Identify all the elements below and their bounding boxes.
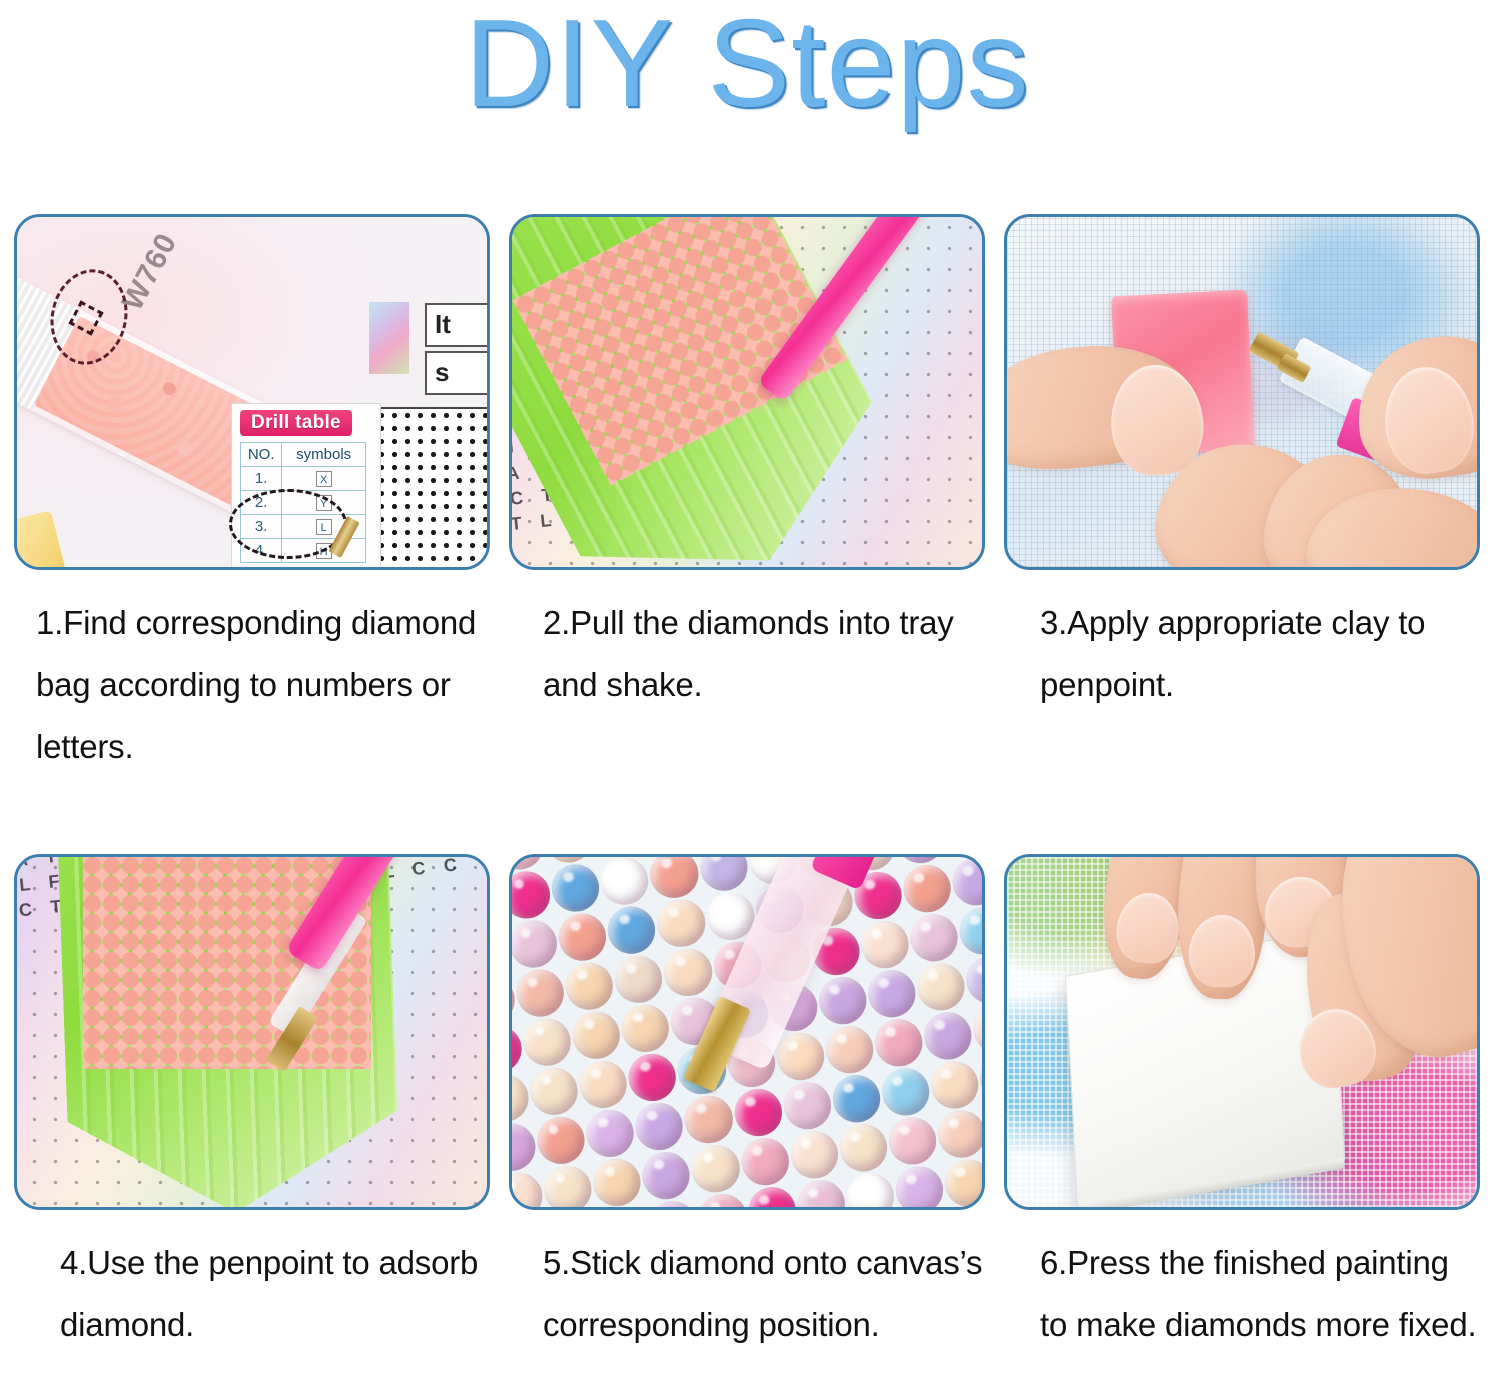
diamond-bead <box>935 1107 982 1160</box>
diamond-bead <box>823 1023 876 1076</box>
diamond-bead <box>647 1198 700 1207</box>
diamond-bead <box>512 868 554 921</box>
steps-grid-row-1: W760 It s Drill table NO. symbols <box>14 214 1484 788</box>
diamond-bead <box>556 910 609 963</box>
diamond-bead <box>886 1114 939 1167</box>
diamond-bead <box>550 861 603 914</box>
diamond-bead <box>795 1177 848 1207</box>
diamond-bead <box>662 946 715 999</box>
diamond-bead <box>942 1156 982 1207</box>
diamond-bead <box>512 1022 525 1075</box>
steps-grid-row-2: V A A T C V L J T X C V L C V T L C C V … <box>14 854 1484 1395</box>
step-photo-6 <box>1004 854 1480 1210</box>
drill-table-title: Drill table <box>240 410 352 436</box>
diamond-bead <box>901 862 954 915</box>
diamond-bead <box>732 1086 785 1139</box>
diamond-bead <box>689 1142 742 1195</box>
diamond-bead <box>535 1114 588 1167</box>
diamond-bead <box>788 1128 841 1181</box>
step-card-5: 5.Stick diamond onto canvas’s correspond… <box>509 854 985 1395</box>
diamond-bead <box>928 1058 981 1111</box>
step-card-2: XAAMX T X X A A V X T A X V T C V L T T … <box>509 214 985 788</box>
diamond-bead <box>915 960 968 1013</box>
step-photo-4: V A A T C V L J T X C V L C V T L C C V … <box>14 854 490 1210</box>
diamond-bead <box>613 953 666 1006</box>
diamond-bead <box>512 1121 539 1174</box>
step-photo-5 <box>509 854 985 1210</box>
pattern-thumbnail <box>369 302 409 374</box>
drill-row-symbol: X <box>282 467 366 491</box>
diamond-bead <box>591 1156 644 1207</box>
step-card-3: 3.Apply appropriate clay to penpoint. <box>1004 214 1480 788</box>
diy-steps-page: DIY Steps W760 It s <box>0 0 1494 1395</box>
diamond-bead <box>648 857 701 901</box>
sheet-text-box-2: s <box>425 351 487 395</box>
diamond-bead <box>978 1051 982 1104</box>
diamond-bead <box>872 1016 925 1069</box>
diamond-bead <box>577 1058 630 1111</box>
page-title: DIY Steps <box>0 0 1494 130</box>
diamond-bead <box>512 1071 532 1124</box>
step-photo-3 <box>1004 214 1480 570</box>
sheet-text-box-1: It <box>425 303 487 347</box>
diamond-bead <box>633 1100 686 1153</box>
diamond-bead <box>512 1170 546 1207</box>
diamond-bead <box>816 974 869 1027</box>
drill-table-col-no: NO. <box>241 443 282 467</box>
step-caption-5: 5.Stick diamond onto canvas’s correspond… <box>509 1232 985 1395</box>
diamond-bead <box>865 967 918 1020</box>
diamond-bead <box>655 897 708 950</box>
diamond-bead <box>696 1191 749 1207</box>
diamond-bead <box>512 857 547 872</box>
diamond-bead <box>908 911 961 964</box>
diamond-bead <box>584 1107 637 1160</box>
diamond-bead <box>739 1135 792 1188</box>
diamond-bead <box>971 1002 982 1055</box>
diamond-bead <box>563 959 616 1012</box>
diamond-bead <box>570 1009 623 1062</box>
diamond-bead <box>512 917 561 970</box>
drill-table-col-symbols: symbols <box>282 443 366 467</box>
diamond-bead <box>858 918 911 971</box>
diamond-bead <box>619 1002 672 1055</box>
step-caption-2: 2.Pull the diamonds into tray and shake. <box>509 592 985 788</box>
diamond-bead <box>844 1170 897 1207</box>
step-caption-1: 1.Find corresponding diamond bag accordi… <box>14 592 490 788</box>
diamond-bead <box>921 1009 974 1062</box>
diamond-bead <box>514 966 567 1019</box>
diamond-bead <box>837 1121 890 1174</box>
diamond-bead <box>950 857 982 908</box>
peg-grid-sheet <box>373 407 487 567</box>
diamond-bead <box>964 953 982 1006</box>
diamond-bead <box>599 857 652 908</box>
step-card-6: 6.Press the finished painting to make di… <box>1004 854 1480 1395</box>
diamond-bead <box>528 1065 581 1118</box>
step-photo-2: XAAMX T X X A A V X T A X V T C V L T T … <box>509 214 985 570</box>
step-caption-3: 3.Apply appropriate clay to penpoint. <box>1004 592 1480 788</box>
diamond-bead <box>893 1163 946 1207</box>
diamond-bead <box>521 1015 574 1068</box>
diamond-bead <box>781 1079 834 1132</box>
diamond-bead <box>542 1163 595 1207</box>
step-caption-6: 6.Press the finished painting to make di… <box>1004 1232 1480 1395</box>
diamond-bead <box>745 1184 798 1207</box>
diamond-bead <box>640 1149 693 1202</box>
diamond-bead <box>774 1030 827 1083</box>
diamond-bead <box>606 903 659 956</box>
diamond-bead <box>682 1093 735 1146</box>
step-caption-4: 4.Use the penpoint to adsorb diamond. <box>14 1232 490 1395</box>
diamond-bead <box>598 1205 651 1207</box>
diamond-bead <box>697 857 750 894</box>
diamond-bead <box>957 904 982 957</box>
drill-row-no: 1. <box>241 467 282 491</box>
step-card-1: W760 It s Drill table NO. symbols <box>14 214 490 788</box>
step-photo-1: W760 It s Drill table NO. symbols <box>14 214 490 570</box>
diamond-bead <box>626 1051 679 1104</box>
diamond-bead <box>879 1065 932 1118</box>
diamond-bead <box>830 1072 883 1125</box>
table-row: 1. X <box>241 467 366 491</box>
step-card-4: V A A T C V L J T X C V L C V T L C C V … <box>14 854 490 1395</box>
